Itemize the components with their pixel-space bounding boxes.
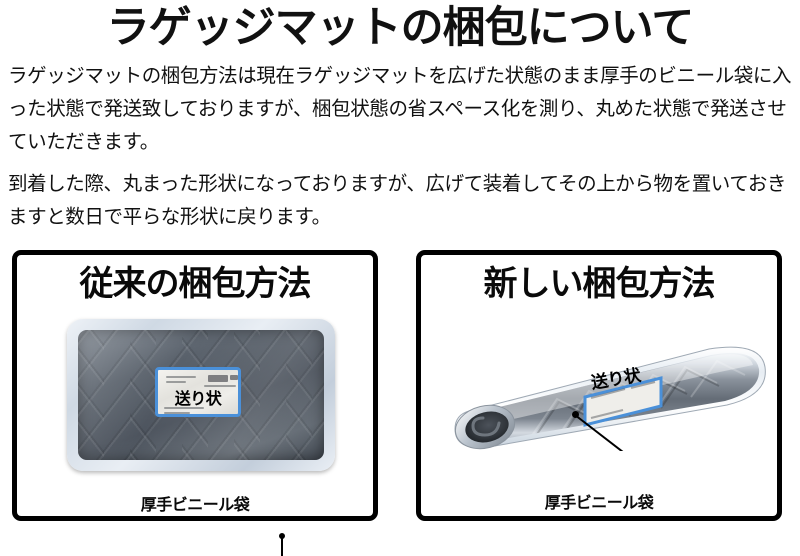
shipping-label-old-text: 送り状	[158, 385, 238, 409]
panel-new-packaging: 新しい梱包方法	[416, 250, 782, 521]
rolled-mat-svg	[439, 341, 769, 451]
callout-line-old	[281, 538, 283, 556]
page-title: ラゲッジマットの梱包について	[0, 2, 800, 54]
panel-old-heading: 従来の梱包方法	[17, 263, 373, 305]
intro-paragraph-1: ラゲッジマットの梱包方法は現在ラゲッジマットを広げた状態のまま厚手のビニール袋に…	[8, 60, 794, 159]
rolled-mat-illustration: 送り状	[439, 341, 769, 451]
flat-mat-illustration: 送り状	[67, 319, 335, 471]
panel-old-caption: 厚手ビニール袋	[17, 491, 373, 515]
intro-paragraph-2: 到着した際、丸まった形状になっておりますが、広げて装着してその上から物を置いてお…	[8, 168, 794, 234]
panel-new-caption: 厚手ビニール袋	[421, 489, 777, 513]
shipping-label-old: 送り状	[155, 367, 241, 417]
callout-dot-new	[572, 411, 579, 418]
panel-old-packaging: 従来の梱包方法 送り状 厚手ビニール袋	[12, 250, 378, 521]
panel-new-heading: 新しい梱包方法	[421, 263, 777, 305]
